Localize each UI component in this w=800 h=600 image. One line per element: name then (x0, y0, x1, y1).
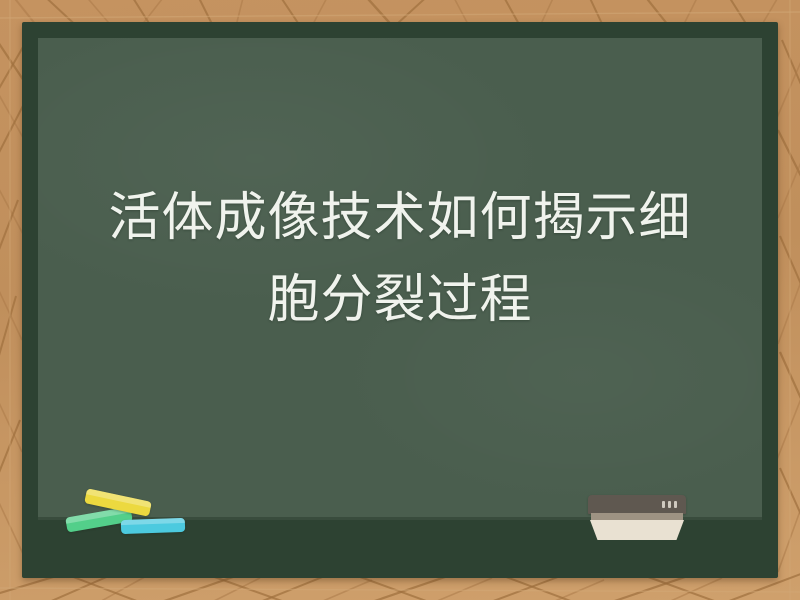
eraser-dot (662, 501, 665, 508)
eraser-dots (662, 501, 677, 508)
board-title-line-2: 胞分裂过程 (46, 260, 754, 342)
chalk-stick-blue (121, 518, 185, 534)
chalkboard-scene: 活体成像技术如何揭示细 胞分裂过程 (0, 0, 800, 600)
eraser-felt (590, 520, 684, 540)
chalkboard-eraser (588, 495, 686, 540)
board-title-line-1: 活体成像技术如何揭示细 (46, 178, 754, 260)
eraser-band (591, 513, 683, 521)
eraser-dot (674, 501, 677, 508)
eraser-handle (588, 495, 686, 514)
board-title: 活体成像技术如何揭示细 胞分裂过程 (0, 178, 800, 342)
eraser-dot (668, 501, 671, 508)
